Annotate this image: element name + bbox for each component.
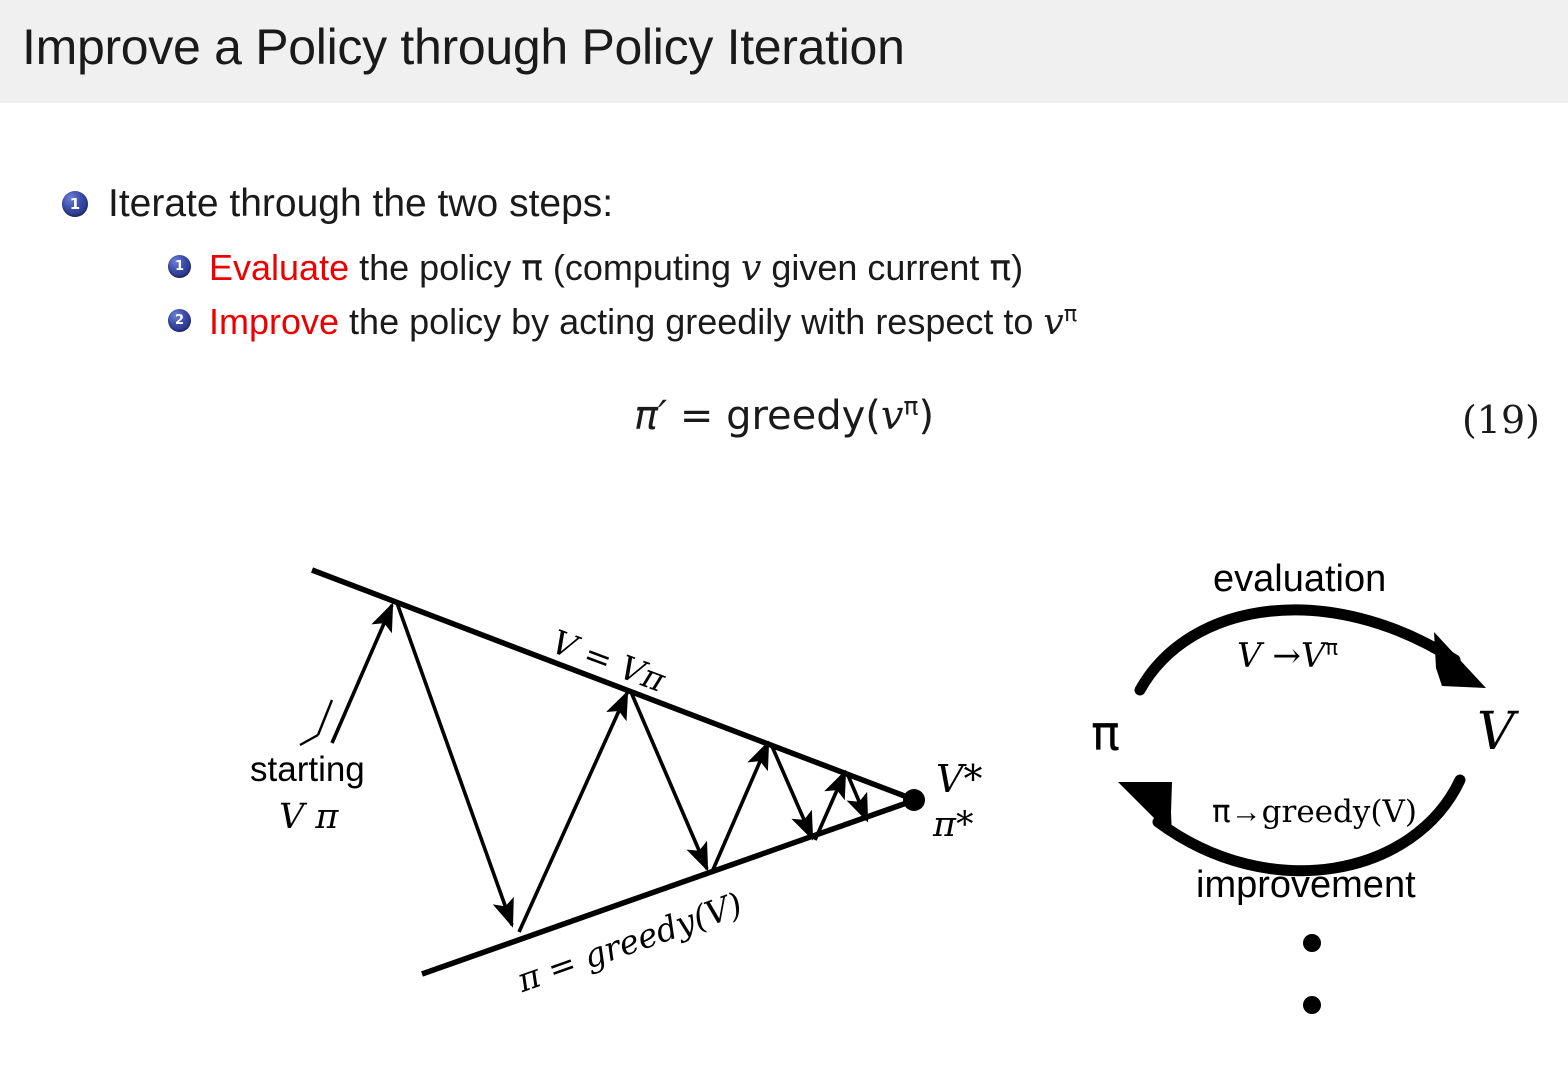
starting-leader-line: [318, 700, 332, 735]
equation-pi-prime: π′: [634, 393, 667, 439]
label-node-pi: π: [1091, 706, 1120, 762]
evaluate-text-c: given current: [761, 247, 989, 288]
label-improvement-caption: improvement: [1196, 864, 1416, 907]
list-item-improve: 2 Improve the policy by acting greedily …: [168, 300, 1077, 345]
arrow-improve-1: [397, 603, 512, 925]
evaluate-text-a: the policy: [349, 247, 521, 288]
bullet-number-icon: 1: [62, 191, 88, 217]
v-symbol: v: [1043, 302, 1063, 343]
arrow-evaluate-1: [332, 605, 392, 743]
arrow-improve-2: [631, 692, 707, 869]
improvement-arc-pi: π: [1212, 794, 1231, 830]
label-improvement-arc: π→greedy(V): [1212, 794, 1417, 830]
evaluation-arc-expr: V →V: [1237, 636, 1325, 676]
equation-equals: =: [667, 393, 726, 439]
arrow-evaluate-2: [519, 693, 627, 932]
label-optimal-v: V*: [936, 757, 982, 801]
pi-symbol: π: [521, 248, 543, 289]
equation-greedy-open: greedy(: [726, 393, 881, 439]
evaluate-text-b: (computing: [543, 247, 741, 288]
equation-number: (19): [1462, 398, 1540, 442]
label-node-v: V: [1477, 702, 1515, 762]
upper-boundary-line: [312, 570, 915, 800]
label-lower-line: π = greedy(V): [512, 884, 747, 999]
evaluate-text-d: ): [1011, 247, 1023, 288]
improvement-arrowhead-icon: [1118, 782, 1172, 836]
arrow-evaluate-3: [712, 743, 768, 872]
pi-symbol: π: [989, 248, 1011, 289]
list-item-evaluate: 1 Evaluate the policy π (computing v giv…: [168, 246, 1023, 291]
arrow-evaluate-4: [815, 772, 845, 840]
v-symbol: v: [741, 248, 761, 289]
arrow-improve-4: [847, 773, 867, 820]
policy-iteration-convergence-diagram: [0, 0, 1568, 1080]
improve-text-a: the policy by acting greedily with respe…: [339, 301, 1043, 342]
label-optimal-pi: π*: [933, 805, 974, 845]
label-evaluation-caption: evaluation: [1213, 558, 1386, 601]
improvement-arc-arrow-icon: →: [1231, 794, 1262, 829]
list-item-improve-label: Improve the policy by acting greedily wi…: [209, 300, 1077, 345]
label-evaluation-arc: V →Vπ: [1237, 636, 1338, 676]
equation-close-paren: ): [918, 393, 934, 439]
page-title: Improve a Policy through Policy Iteratio…: [22, 18, 905, 76]
equation-policy-greedy: π′ = greedy(vπ): [0, 393, 1568, 439]
list-item-level1: 1 Iterate through the two steps:: [62, 181, 613, 227]
evaluation-arc-sup: π: [1325, 635, 1338, 660]
list-item-evaluate-label: Evaluate the policy π (computing v given…: [209, 246, 1023, 291]
starting-leader-line-tail: [300, 735, 318, 745]
bullet-number-icon: 2: [168, 309, 191, 332]
slide-title-bar: Improve a Policy through Policy Iteratio…: [0, 0, 1568, 103]
list-item-dot: [1303, 934, 1321, 952]
equation-superscript-pi: π: [904, 392, 919, 421]
keyword-improve: Improve: [209, 301, 339, 342]
optimal-point-dot: [903, 789, 925, 811]
label-starting-line1: starting: [250, 750, 365, 790]
evaluation-arrowhead-icon: [1434, 632, 1486, 688]
label-upper-line: V = Vπ: [546, 622, 670, 700]
bullet-number-icon: 1: [168, 255, 191, 278]
label-starting-line2: V π: [279, 797, 338, 837]
keyword-evaluate: Evaluate: [209, 247, 349, 288]
list-item-level1-label: Iterate through the two steps:: [108, 181, 613, 227]
superscript-pi: π: [1064, 301, 1077, 327]
list-item-dot: [1303, 996, 1321, 1014]
generalized-policy-iteration-cycle: [0, 0, 1568, 1080]
improvement-arc-expr: greedy(V): [1262, 794, 1417, 830]
equation-v: v: [881, 393, 904, 439]
arrow-improve-3: [771, 744, 812, 838]
